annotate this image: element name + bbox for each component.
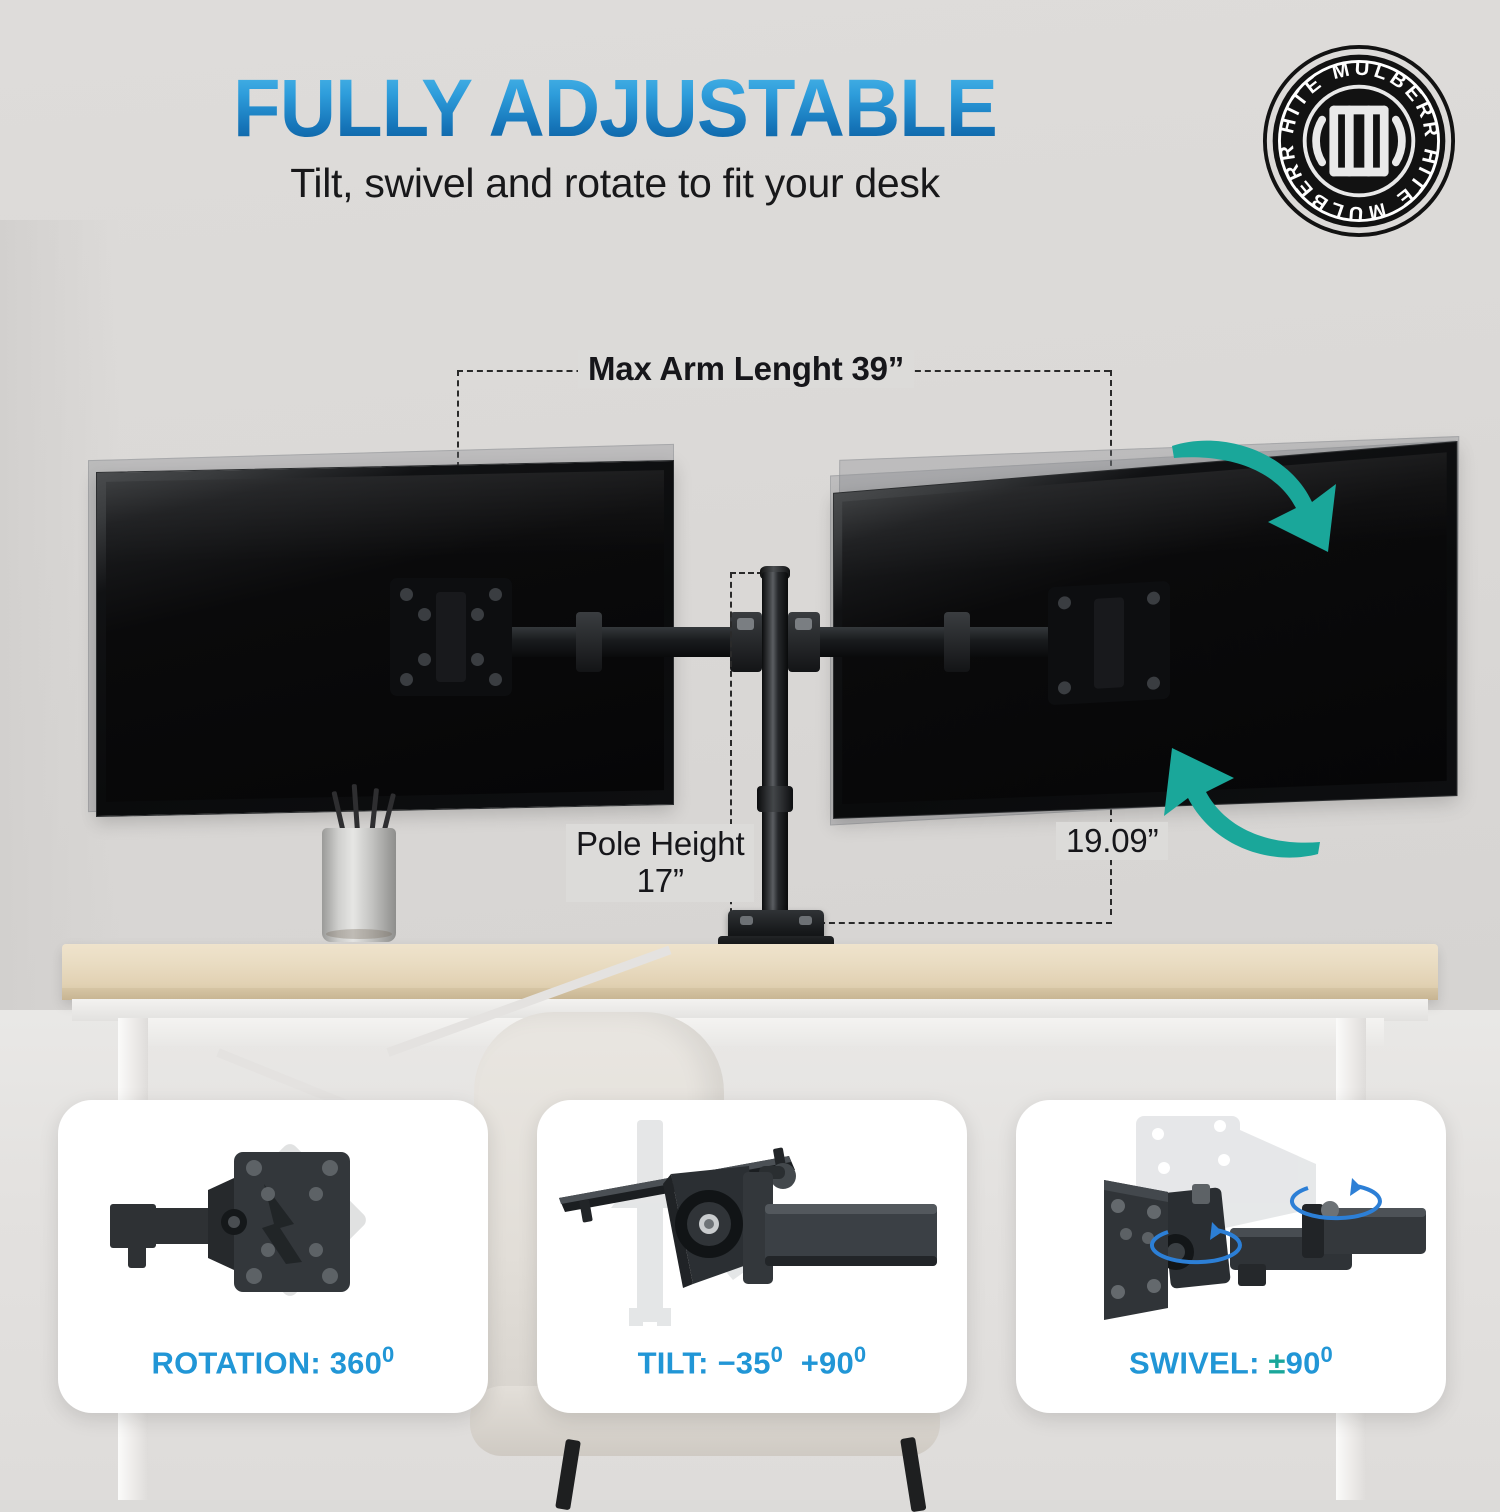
feature-card-tilt[interactable]: TILT: −350 +900 — [537, 1100, 967, 1413]
card-swivel-text: SWIVEL: — [1129, 1345, 1268, 1380]
arm-knob-right — [795, 618, 812, 630]
tilt-down-arrow — [1160, 424, 1380, 564]
vesa-hole — [400, 673, 413, 686]
vesa-plate-rotation-diagram — [58, 1112, 488, 1330]
tilt-mechanism-side-view — [537, 1112, 967, 1330]
vesa-hole — [471, 653, 484, 666]
vesa-hole — [1147, 591, 1160, 605]
vesa-right-spine — [1094, 597, 1124, 689]
card-tilt-degree2: 0 — [854, 1342, 866, 1367]
card-swivel-degree: 0 — [1321, 1342, 1333, 1367]
card-swivel-label: SWIVEL: ±900 — [1016, 1342, 1446, 1381]
mount-pole — [762, 572, 788, 940]
pole-height-label: Pole Height 17” — [566, 824, 754, 902]
white-mulberry-badge-icon: WHITE MULBERRY WHITE MULBERRY — [1262, 44, 1456, 238]
feature-card-swivel[interactable]: SWIVEL: ±900 — [1016, 1100, 1446, 1413]
feature-card-rotation[interactable]: ROTATION: 3600 — [58, 1100, 488, 1413]
pole-height-label-line1: Pole Height — [576, 825, 744, 862]
card-rotation-degree: 0 — [382, 1342, 394, 1367]
arm-joint-left — [576, 612, 602, 672]
vesa-hole — [1058, 596, 1071, 610]
pole-height-label-line2: 17” — [637, 862, 684, 899]
tilt-up-arrow — [1122, 736, 1332, 866]
vesa-plate-left — [390, 578, 512, 696]
card-tilt-text2: +90 — [801, 1345, 854, 1380]
vesa-hole — [1147, 676, 1160, 690]
page-title: FULLY ADJUSTABLE — [31, 68, 1200, 150]
vesa-hole — [418, 653, 431, 666]
desk-apron — [118, 1018, 1384, 1046]
brand-logo: WHITE MULBERRY WHITE MULBERRY — [1262, 44, 1456, 238]
vesa-hole — [489, 588, 502, 601]
card-tilt-label: TILT: −350 +900 — [537, 1342, 967, 1381]
monitor-left-glare — [106, 470, 664, 565]
card-swivel-value: 90 — [1286, 1345, 1321, 1380]
swivel-arm-diagram — [1016, 1112, 1446, 1330]
arm-length-label: Max Arm Lenght 39” — [578, 350, 914, 388]
desk-top — [62, 944, 1438, 1000]
pen-cup — [322, 828, 396, 942]
arm-joint-right — [944, 612, 970, 672]
card-tilt-text: TILT: −35 — [638, 1345, 771, 1380]
arm-knob-left — [737, 618, 754, 630]
vesa-hole — [489, 673, 502, 686]
infographic-canvas: FULLY ADJUSTABLE Tilt, swivel and rotate… — [0, 0, 1500, 1500]
card-swivel-plusminus: ± — [1268, 1345, 1285, 1380]
page-subtitle: Tilt, swivel and rotate to fit your desk — [0, 160, 1230, 207]
vesa-hole — [1058, 681, 1071, 695]
vesa-hole — [418, 608, 431, 621]
card-tilt-degree: 0 — [771, 1342, 783, 1367]
vesa-plate-right — [1048, 581, 1170, 705]
card-rotation-text: ROTATION: 360 — [152, 1345, 383, 1380]
pole-collar — [757, 786, 793, 812]
card-rotation-label: ROTATION: 3600 — [58, 1342, 488, 1381]
vesa-hole — [400, 588, 413, 601]
vesa-left-spine — [436, 592, 466, 682]
vesa-hole — [471, 608, 484, 621]
